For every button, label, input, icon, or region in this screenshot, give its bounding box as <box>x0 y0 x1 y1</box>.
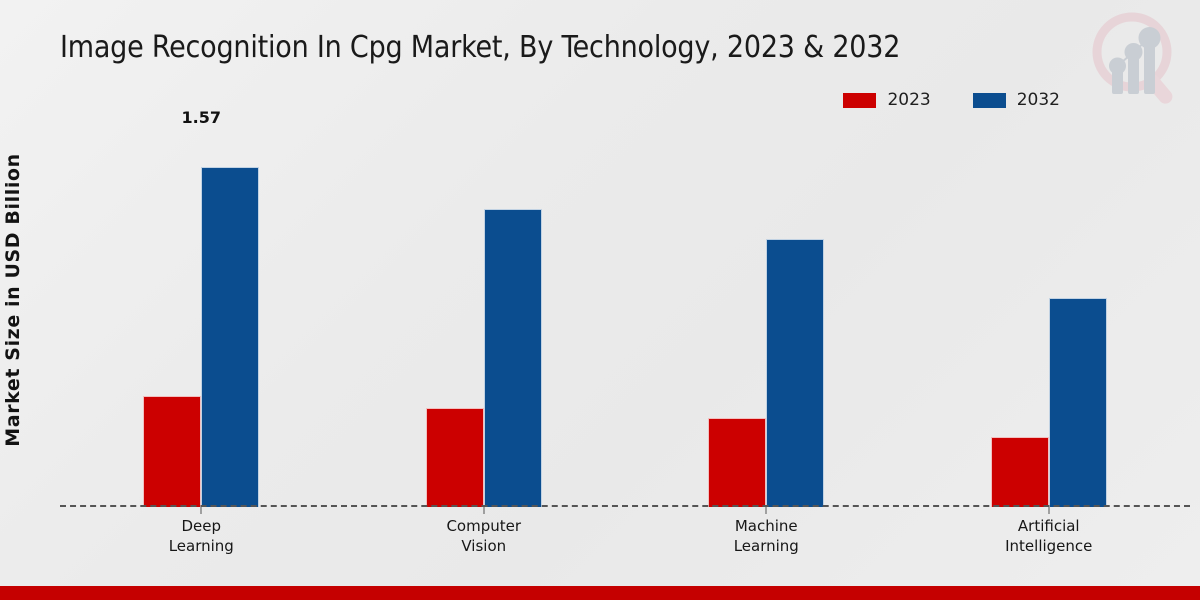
bar-group-computer-vision: Computer Vision <box>343 130 626 507</box>
bar-group-deep-learning: 1.57 Deep Learning <box>60 130 343 507</box>
bar-2032[interactable] <box>1049 298 1107 507</box>
legend-item-2023[interactable]: 2023 <box>843 90 930 110</box>
y-axis-title: Market Size in USD Billion <box>2 153 24 446</box>
bar-2023[interactable] <box>426 408 484 507</box>
category-label-artificial-intelligence: Artificial Intelligence <box>1005 516 1092 557</box>
bars <box>991 130 1107 507</box>
legend-item-2032[interactable]: 2032 <box>973 90 1060 110</box>
bar-group-artificial-intelligence: Artificial Intelligence <box>908 130 1191 507</box>
axis-tick <box>766 507 767 514</box>
bar-2023[interactable] <box>708 418 766 507</box>
trend-line <box>1118 38 1150 66</box>
bar-groups: 1.57 Deep Learning Computer Vision <box>60 130 1190 507</box>
chart-container: Image Recognition In Cpg Market, By Tech… <box>0 0 1200 600</box>
category-label-machine-learning: Machine Learning <box>734 516 799 557</box>
axis-tick <box>1048 507 1049 514</box>
chart-legend: 2023 2032 <box>843 90 1060 110</box>
bar-value-label: 1.57 <box>182 108 221 127</box>
bar-chart-glyph <box>1109 27 1161 94</box>
watermark-logo <box>1080 4 1192 114</box>
axis-tick <box>483 507 484 514</box>
axis-baseline <box>60 505 1190 507</box>
legend-swatch-2023 <box>843 93 876 108</box>
legend-label-2032: 2032 <box>1017 90 1060 110</box>
magnifier-icon <box>1097 17 1175 107</box>
legend-swatch-2032 <box>973 93 1006 108</box>
bars <box>708 130 824 507</box>
bar-2023[interactable] <box>991 437 1049 507</box>
chart-title: Image Recognition In Cpg Market, By Tech… <box>60 30 900 65</box>
bar-2032[interactable] <box>201 167 259 507</box>
legend-label-2023: 2023 <box>887 90 930 110</box>
category-label-deep-learning: Deep Learning <box>169 516 234 557</box>
bar-group-machine-learning: Machine Learning <box>625 130 908 507</box>
bar-2032[interactable] <box>766 239 824 507</box>
bar-2023[interactable]: 1.57 <box>143 396 201 507</box>
plot-area: 1.57 Deep Learning Computer Vision <box>60 130 1190 507</box>
footer-stripe <box>0 586 1200 600</box>
bars <box>426 130 542 507</box>
axis-tick <box>201 507 202 514</box>
category-label-computer-vision: Computer Vision <box>446 516 521 557</box>
bars: 1.57 <box>143 130 259 507</box>
bar-2032[interactable] <box>484 209 542 507</box>
